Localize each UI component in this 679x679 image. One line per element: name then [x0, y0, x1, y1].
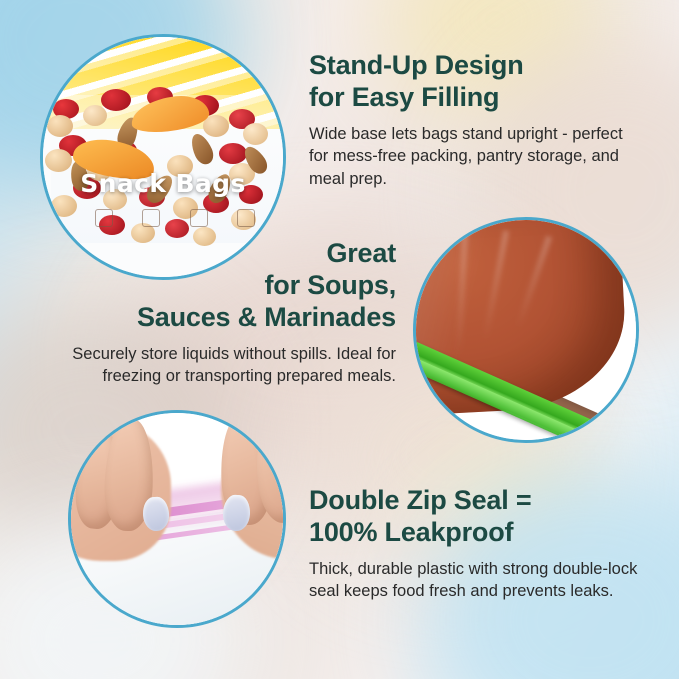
feature-body-double-zip-seal: Thick, durable plastic with strong doubl…: [309, 558, 644, 604]
feature-body-soups-sauces-marinades: Securely store liquids without spills. I…: [16, 343, 396, 389]
feature-text-double-zip-seal: Double Zip Seal = 100% Leakproof Thick, …: [309, 485, 644, 603]
snack-bag-certification-icons: [95, 209, 255, 235]
headline-line-1: Great: [326, 238, 396, 268]
headline-line-1: Double Zip Seal =: [309, 485, 531, 515]
snack-bag-label-text: Snack Bags: [43, 169, 283, 198]
double-zip-seal-scene: [71, 413, 283, 625]
headline-line-3: Sauces & Marinades: [137, 302, 396, 332]
sauce-bag-scene: [416, 220, 636, 440]
product-feature-infographic: Snack Bags: [0, 0, 679, 679]
bag-icon-2: [142, 209, 160, 227]
feature-headline-soups-sauces-marinades: Great for Soups, Sauces & Marinades: [16, 238, 396, 334]
headline-line-2: for Easy Filling: [309, 82, 499, 112]
sauce-bag-crease-3: [515, 236, 552, 329]
sauce-bag-photo: [413, 217, 639, 443]
headline-line-2: for Soups,: [265, 270, 397, 300]
feature-text-stand-up-design: Stand-Up Design for Easy Filling Wide ba…: [309, 50, 639, 191]
headline-line-1: Stand-Up Design: [309, 50, 524, 80]
bag-icon-3: [190, 209, 208, 227]
headline-line-2: 100% Leakproof: [309, 517, 513, 547]
hands-sealing-bag-photo: [68, 410, 286, 628]
feature-headline-stand-up-design: Stand-Up Design for Easy Filling: [309, 50, 639, 114]
bag-icon-1: [95, 209, 113, 227]
feature-text-soups-sauces-marinades: Great for Soups, Sauces & Marinades Secu…: [16, 238, 396, 388]
feature-body-stand-up-design: Wide base lets bags stand upright - perf…: [309, 123, 639, 191]
bag-icon-4: [237, 209, 255, 227]
feature-headline-double-zip-seal: Double Zip Seal = 100% Leakproof: [309, 485, 644, 549]
